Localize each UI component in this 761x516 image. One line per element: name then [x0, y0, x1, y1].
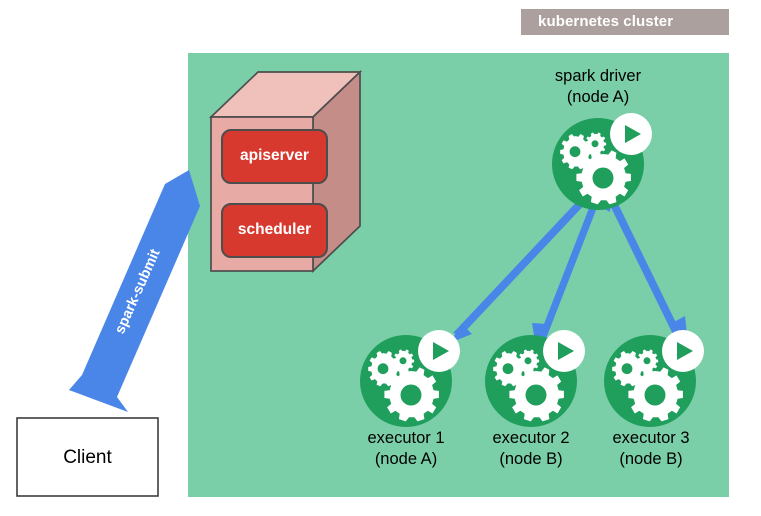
apiserver-label: apiserver — [222, 147, 327, 165]
scheduler-label: scheduler — [222, 221, 327, 239]
executor-2-label-line1: executor 2 — [461, 428, 601, 448]
spark-driver-label-line1: spark driver — [528, 66, 668, 86]
executor-1-label-line1: executor 1 — [336, 428, 476, 448]
control-plane-cube — [211, 72, 360, 271]
executor-3-label-line2: (node B) — [581, 449, 721, 469]
diagram-canvas: kubernetes cluster apiserver scheduler s… — [0, 0, 761, 516]
executor-2-label-line2: (node B) — [461, 449, 601, 469]
kubernetes-cluster-badge-label: kubernetes cluster — [538, 13, 673, 30]
client-label: Client — [17, 447, 158, 469]
spark-driver-label-line2: (node A) — [528, 87, 668, 107]
executor-3-label-line1: executor 3 — [581, 428, 721, 448]
executor-1-label-line2: (node A) — [336, 449, 476, 469]
